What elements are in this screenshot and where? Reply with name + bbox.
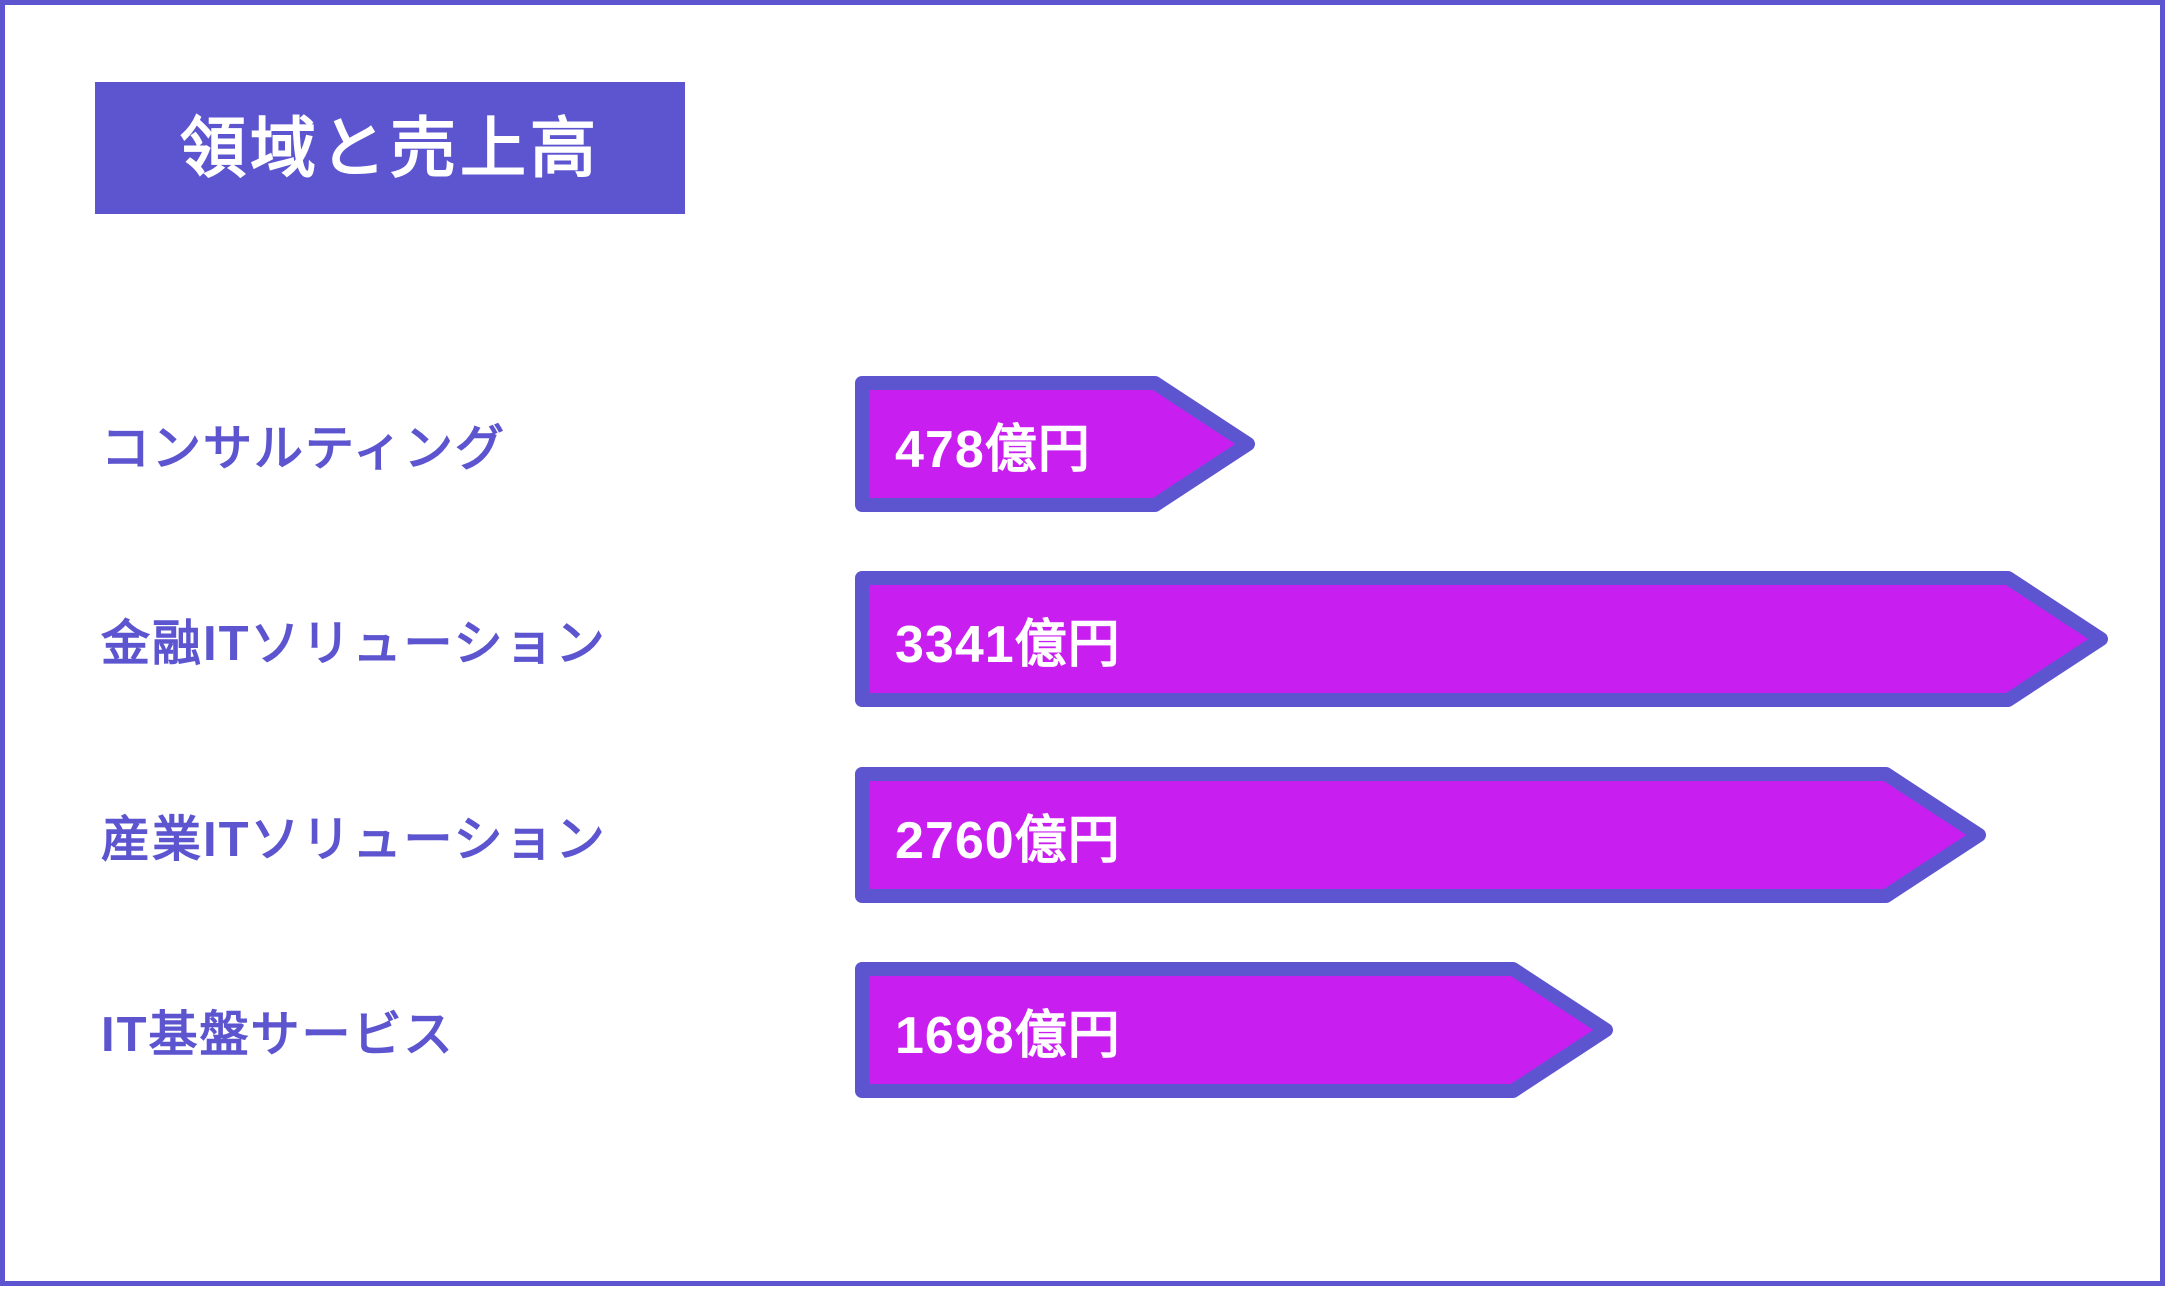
category-label: IT基盤サービス (101, 962, 455, 1098)
bar-arrow-shape (855, 767, 1986, 903)
category-label: コンサルティング (101, 376, 506, 512)
bar-arrow[interactable]: 478億円 (855, 376, 1255, 512)
segment-revenue-chart: コンサルティング 478億円 金融ITソリューション 3341億円 産業ITソリ… (5, 5, 2165, 1291)
slide-canvas: 領域と売上高 コンサルティング 478億円 金融ITソリューション 3341億円… (0, 0, 2165, 1286)
category-label: 産業ITソリューション (101, 767, 607, 903)
bar-arrow[interactable]: 1698億円 (855, 962, 1613, 1098)
bar-arrow-shape (855, 571, 2108, 707)
chart-row: IT基盤サービス 1698億円 (5, 962, 2165, 1098)
bar-arrow-shape (855, 962, 1613, 1098)
bar-arrow[interactable]: 3341億円 (855, 571, 2108, 707)
chart-row: コンサルティング 478億円 (5, 376, 2165, 512)
bar-arrow-shape (855, 376, 1255, 512)
bar-arrow[interactable]: 2760億円 (855, 767, 1986, 903)
category-label: 金融ITソリューション (101, 571, 607, 707)
chart-row: 産業ITソリューション 2760億円 (5, 767, 2165, 903)
chart-row: 金融ITソリューション 3341億円 (5, 571, 2165, 707)
